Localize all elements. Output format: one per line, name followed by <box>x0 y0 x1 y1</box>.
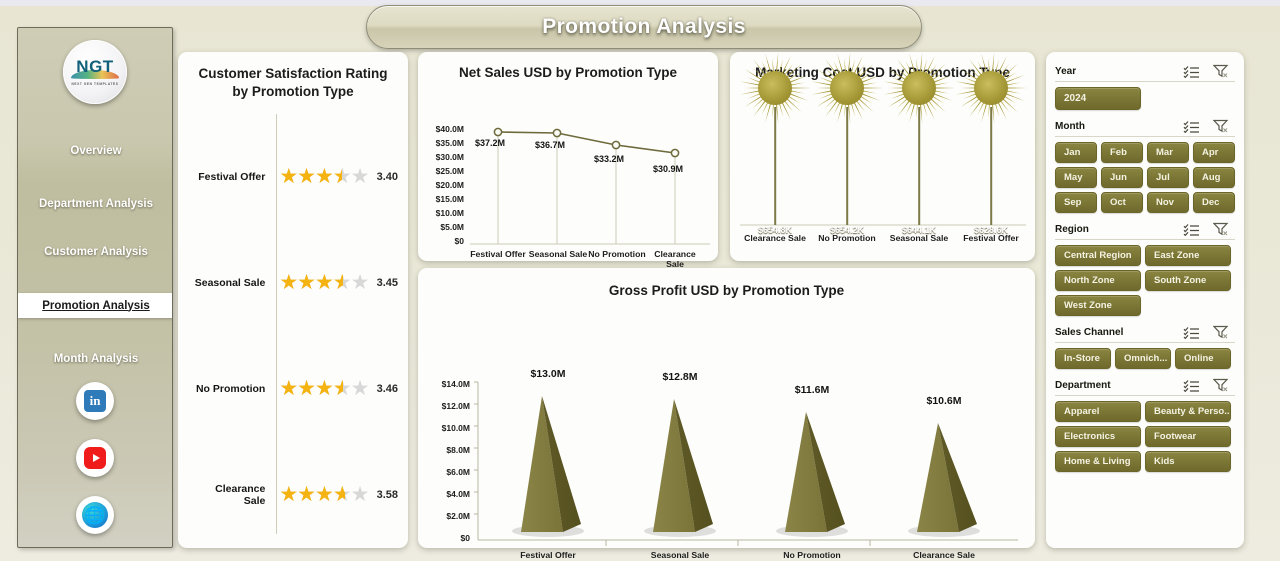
filter-header-month: Month <box>1055 119 1235 133</box>
filter-chip[interactable]: Jan <box>1055 142 1097 163</box>
data-point-label: $30.9M <box>653 164 683 174</box>
filter-header-sales-channel: Sales Channel <box>1055 325 1235 339</box>
chart-title: Net Sales USD by Promotion Type <box>418 64 718 82</box>
star-rating: ★★★★★ ★★★★★ <box>279 483 370 507</box>
x-category-label: No Promotion <box>581 249 653 259</box>
data-point-label: $37.2M <box>475 138 505 148</box>
linkedin-icon[interactable]: in <box>76 382 114 420</box>
filter-chip[interactable]: Nov <box>1147 192 1189 213</box>
filter-chip[interactable]: Apr <box>1193 142 1235 163</box>
data-point-label: $13.0M <box>530 368 565 380</box>
checklist-icon[interactable] <box>1183 223 1200 236</box>
starburst-icon <box>738 51 812 125</box>
sidebar: NGT NEXT GEN TEMPLATES Overview Departme… <box>17 27 173 548</box>
data-point-label: $11.6M <box>795 384 829 396</box>
filter-chip[interactable]: South Zone <box>1145 270 1231 291</box>
filter-chip[interactable]: Electronics <box>1055 426 1141 447</box>
net-sales-plot-area: $40.0M $35.0M $30.0M $25.0M $20.0M $15.0… <box>418 86 718 261</box>
filter-chip[interactable]: Jun <box>1101 167 1143 188</box>
rating-category-label: Festival Offer <box>192 171 271 183</box>
brand-logo-tagline: NEXT GEN TEMPLATES <box>71 82 118 86</box>
rating-category-label: Clearance Sale <box>192 483 271 507</box>
sidebar-item-department-analysis[interactable]: Department Analysis <box>18 191 173 216</box>
starburst-icon <box>954 51 1028 125</box>
clear-filter-icon[interactable] <box>1213 222 1229 236</box>
youtube-icon[interactable] <box>76 439 114 477</box>
data-point-label: $33.2M <box>594 154 624 164</box>
page-title: Promotion Analysis <box>542 15 746 39</box>
sidebar-item-label: Overview <box>70 145 121 157</box>
filter-options-region: Central Region East Zone North Zone Sout… <box>1055 245 1235 316</box>
divider <box>1055 395 1235 396</box>
customer-satisfaction-chart-card: Customer Satisfaction Rating by Promotio… <box>178 52 408 548</box>
clear-filter-icon[interactable] <box>1213 119 1229 133</box>
filter-header-department: Department <box>1055 378 1235 392</box>
chart-title: Customer Satisfaction Rating by Promotio… <box>178 65 408 101</box>
rating-value: 3.45 <box>377 277 398 289</box>
x-category-label: No Promotion <box>762 550 862 560</box>
filter-options-sales-channel: In-Store Omnich... Online <box>1055 348 1235 369</box>
chart-title-line1: Customer Satisfaction Rating <box>178 65 408 83</box>
youtube-glyph <box>84 447 106 469</box>
x-category-label: Festival Offer <box>498 550 598 560</box>
filter-title: Sales Channel <box>1055 327 1183 338</box>
filter-chip[interactable]: West Zone <box>1055 295 1141 316</box>
sidebar-item-promotion-analysis[interactable]: Promotion Analysis <box>18 293 173 318</box>
gross-profit-cones-svg <box>418 308 1035 548</box>
x-category-label: Seasonal Sale <box>630 550 730 560</box>
rating-row[interactable]: Festival Offer ★★★★★ ★★★★★ 3.40 <box>192 154 398 200</box>
filter-chip[interactable]: Sep <box>1055 192 1097 213</box>
starburst-icon <box>882 51 956 125</box>
filter-options-department: Apparel Beauty & Perso... Electronics Fo… <box>1055 401 1235 472</box>
sidebar-item-month-analysis[interactable]: Month Analysis <box>18 346 173 371</box>
website-globe-icon[interactable]: 🌐 <box>76 496 114 534</box>
rating-value: 3.46 <box>377 383 398 395</box>
sidebar-item-overview[interactable]: Overview <box>18 138 173 163</box>
data-point-label: $12.8M <box>662 371 697 383</box>
data-point-label: $10.6M <box>926 395 961 407</box>
dashboard-root: NGT NEXT GEN TEMPLATES Overview Departme… <box>0 0 1280 561</box>
x-category-label: Clearance Sale <box>648 249 702 269</box>
clear-filter-icon[interactable] <box>1213 325 1229 339</box>
divider <box>1055 81 1235 82</box>
rating-row[interactable]: No Promotion ★★★★★ ★★★★★ 3.46 <box>192 366 398 412</box>
filter-chip[interactable]: Footwear <box>1145 426 1231 447</box>
divider <box>1055 136 1235 137</box>
filter-chip[interactable]: North Zone <box>1055 270 1141 291</box>
sidebar-item-label: Promotion Analysis <box>42 300 150 312</box>
globe-glyph: 🌐 <box>82 502 108 528</box>
star-rating: ★★★★★ ★★★★★ <box>279 271 370 295</box>
clear-filter-icon[interactable] <box>1213 64 1229 78</box>
page-title-banner: Promotion Analysis <box>366 5 922 49</box>
sidebar-item-label: Customer Analysis <box>44 246 148 258</box>
marketing-cost-chart-card: Marketing Cost USD by Promotion Type $65… <box>730 52 1035 261</box>
filter-chip[interactable]: Beauty & Perso... <box>1145 401 1231 422</box>
filter-header-year: Year <box>1055 64 1235 78</box>
sidebar-item-label: Month Analysis <box>54 353 139 365</box>
marketing-cost-plot-area: $654.8K $654.2K $644.1K <box>730 82 1035 261</box>
filter-chip[interactable]: East Zone <box>1145 245 1231 266</box>
chart-title: Gross Profit USD by Promotion Type <box>418 282 1035 300</box>
gross-profit-plot-area: $14.0M $12.0M $10.0M $8.0M $6.0M $4.0M $… <box>418 308 1035 548</box>
chart-title-line2: by Promotion Type <box>178 83 408 101</box>
filter-title: Month <box>1055 121 1183 132</box>
star-filled-icons: ★★★★★ <box>279 483 345 507</box>
rating-row[interactable]: Clearance Sale ★★★★★ ★★★★★ 3.58 <box>192 472 398 518</box>
filter-chip[interactable]: Mar <box>1147 142 1189 163</box>
filter-chip[interactable]: 2024 <box>1055 87 1141 110</box>
filter-chip[interactable]: Kids <box>1145 451 1231 472</box>
filter-title: Region <box>1055 224 1183 235</box>
filter-title: Department <box>1055 380 1183 391</box>
brand-logo: NGT NEXT GEN TEMPLATES <box>63 40 127 104</box>
filter-title: Year <box>1055 66 1183 77</box>
filter-header-region: Region <box>1055 222 1235 236</box>
starburst-icon <box>810 51 884 125</box>
sidebar-item-label: Department Analysis <box>39 198 153 210</box>
checklist-icon[interactable] <box>1183 379 1200 392</box>
filter-chip[interactable]: Apparel <box>1055 401 1141 422</box>
filter-panel: Year 2024 Month <box>1046 52 1244 548</box>
net-sales-chart-card: Net Sales USD by Promotion Type $40.0M $… <box>418 52 718 261</box>
filter-chip[interactable]: Home & Living <box>1055 451 1141 472</box>
divider <box>1055 342 1235 343</box>
satisfaction-plot-area: Festival Offer ★★★★★ ★★★★★ 3.40 Seasonal… <box>192 114 398 534</box>
filter-options-year: 2024 <box>1055 87 1235 110</box>
filter-chip[interactable]: Aug <box>1193 167 1235 188</box>
checklist-icon[interactable] <box>1183 120 1200 133</box>
clear-filter-icon[interactable] <box>1213 378 1229 392</box>
star-rating: ★★★★★ ★★★★★ <box>279 165 370 189</box>
x-category-label: Clearance Sale <box>894 550 994 560</box>
divider <box>1055 239 1235 240</box>
filter-chip[interactable]: Online <box>1175 348 1231 369</box>
rating-category-label: No Promotion <box>192 383 271 395</box>
rating-value: 3.58 <box>377 489 398 501</box>
rating-value: 3.40 <box>377 171 398 183</box>
rating-row[interactable]: Seasonal Sale ★★★★★ ★★★★★ 3.45 <box>192 260 398 306</box>
linkedin-glyph: in <box>84 390 106 412</box>
filter-options-month: Jan Feb Mar Apr May Jun Jul Aug Sep Oct … <box>1055 142 1235 213</box>
filter-chip[interactable]: Dec <box>1193 192 1235 213</box>
filter-chip[interactable]: Omnich... <box>1115 348 1171 369</box>
filter-chip[interactable]: May <box>1055 167 1097 188</box>
filter-chip[interactable]: Oct <box>1101 192 1143 213</box>
checklist-icon[interactable] <box>1183 65 1200 78</box>
star-filled-icons: ★★★★★ <box>279 271 343 295</box>
checklist-icon[interactable] <box>1183 326 1200 339</box>
filter-chip[interactable]: Feb <box>1101 142 1143 163</box>
filter-chip[interactable]: Central Region <box>1055 245 1141 266</box>
sidebar-item-customer-analysis[interactable]: Customer Analysis <box>18 239 173 264</box>
star-filled-icons: ★★★★★ <box>279 377 343 401</box>
rating-category-label: Seasonal Sale <box>192 277 271 289</box>
filter-chip[interactable]: In-Store <box>1055 348 1111 369</box>
star-filled-icons: ★★★★★ <box>279 165 342 189</box>
brand-logo-text: NGT <box>76 58 113 75</box>
data-point-label: $36.7M <box>535 140 565 150</box>
star-rating: ★★★★★ ★★★★★ <box>279 377 370 401</box>
filter-chip[interactable]: Jul <box>1147 167 1189 188</box>
gross-profit-chart-card: Gross Profit USD by Promotion Type $14.0… <box>418 268 1035 548</box>
